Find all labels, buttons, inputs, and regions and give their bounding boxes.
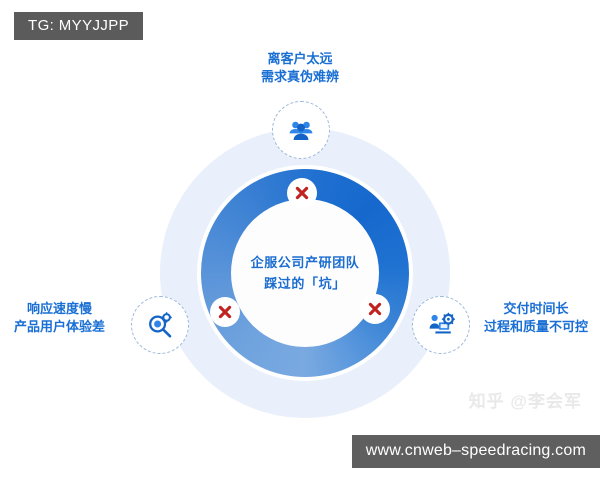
zhihu-watermark: 知乎 @李会军 bbox=[469, 387, 582, 412]
node-label-right: 交付时间长 过程和质量不可控 bbox=[484, 300, 588, 336]
telegram-handle-chip: TG: MYYJJPP bbox=[14, 12, 143, 40]
center-caption-line-2: 踩过的「坑」 bbox=[264, 277, 346, 290]
node-label-left: 响应速度慢 产品用户体验差 bbox=[14, 300, 105, 336]
node-label-right-line-1: 交付时间长 bbox=[484, 300, 588, 318]
node-label-top: 离客户太远 需求真伪难辨 bbox=[0, 50, 600, 86]
node-icon-bubble-left bbox=[131, 296, 189, 354]
node-label-top-line-2: 需求真伪难辨 bbox=[0, 68, 600, 86]
node-icon-bubble-top bbox=[272, 101, 330, 159]
node-label-left-line-1: 响应速度慢 bbox=[14, 300, 105, 318]
red-x-icon bbox=[217, 304, 233, 320]
node-label-top-line-1: 离客户太远 bbox=[0, 50, 600, 68]
node-label-left-line-2: 产品用户体验差 bbox=[14, 318, 105, 336]
center-caption: 企服公司产研团队 踩过的「坑」 bbox=[231, 199, 379, 347]
node-label-right-line-2: 过程和质量不可控 bbox=[484, 318, 588, 336]
person-laptop-gear-icon bbox=[426, 310, 456, 340]
node-icon-bubble-right bbox=[412, 296, 470, 354]
red-x-icon bbox=[367, 301, 383, 317]
ring-marker-right bbox=[360, 294, 390, 324]
ring-marker-top bbox=[287, 178, 317, 208]
center-caption-line-1: 企服公司产研团队 bbox=[251, 256, 360, 269]
people-group-icon bbox=[286, 115, 316, 145]
ring-marker-left bbox=[210, 297, 240, 327]
website-url-chip: www.cnweb–speedracing.com bbox=[352, 435, 600, 468]
magnifier-gear-icon bbox=[145, 310, 175, 340]
red-x-icon bbox=[294, 185, 310, 201]
